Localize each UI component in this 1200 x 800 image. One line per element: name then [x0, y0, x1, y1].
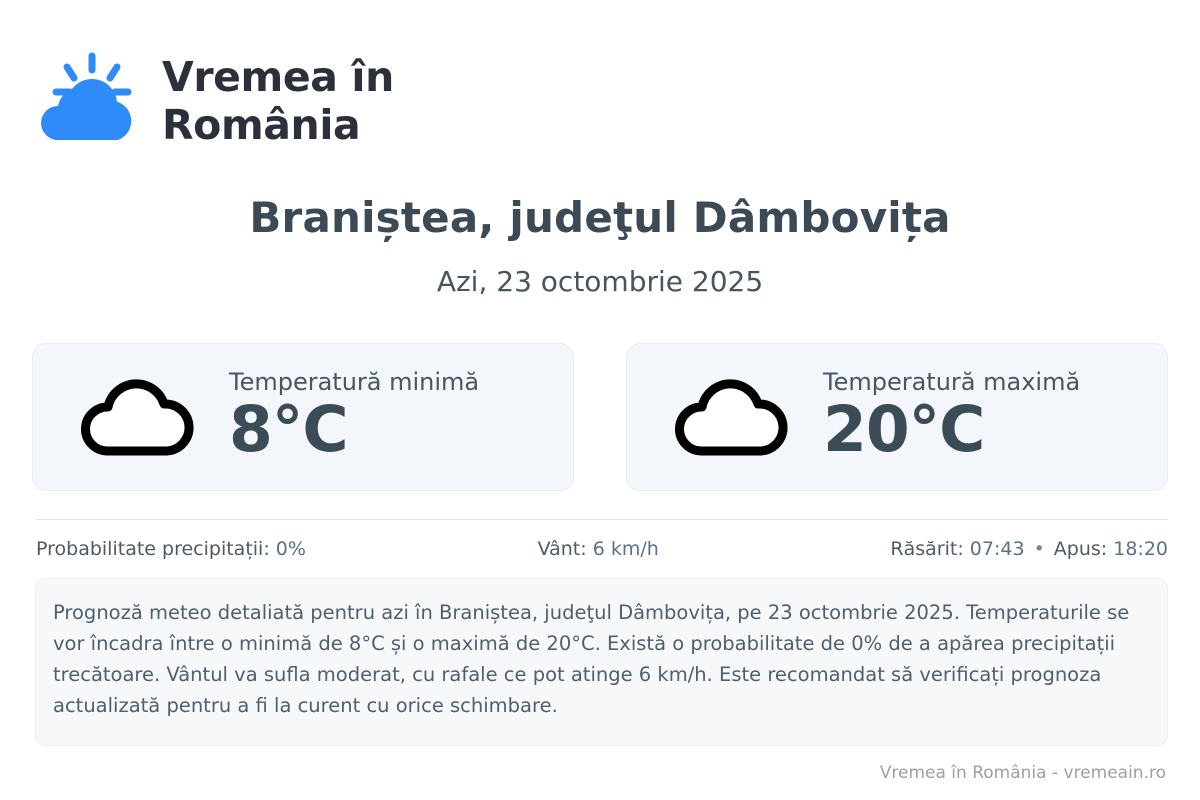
sun-times-stat: Răsărit: 07:43•Apus: 18:20 [890, 538, 1168, 560]
brand-name: Vremea în România [162, 53, 394, 150]
date-subtitle: Azi, 23 octombrie 2025 [0, 265, 1200, 298]
wind-value: 6 km/h [593, 538, 659, 560]
sunset-label: Apus: [1054, 538, 1107, 560]
wind-stat: Vânt: 6 km/h [306, 538, 890, 560]
sunrise-label: Răsărit: [890, 538, 963, 560]
forecast-description-box: Prognoză meteo detaliată pentru azi în B… [35, 578, 1168, 746]
sunrise-value: 07:43 [970, 538, 1025, 560]
forecast-description-text: Prognoză meteo detaliată pentru azi în B… [53, 597, 1141, 721]
sunset-value: 18:20 [1113, 538, 1168, 560]
max-temperature-body: Temperatură maximă 20°C [823, 369, 1080, 464]
precipitation-label: Probabilitate precipitații: [36, 538, 270, 560]
cloud-icon [671, 371, 793, 463]
precipitation-value: 0% [276, 538, 306, 560]
min-temperature-card: Temperatură minimă 8°C [32, 343, 574, 491]
min-temperature-body: Temperatură minimă 8°C [229, 369, 479, 464]
sun-separator: • [1025, 538, 1054, 560]
max-temperature-value: 20°C [823, 397, 1080, 463]
section-divider [36, 519, 1168, 520]
wind-label: Vânt: [538, 538, 587, 560]
footer-credit: Vremea în România - vremeain.ro [880, 763, 1166, 783]
brand-header: Vremea în România [36, 48, 394, 154]
page-title: Braniștea, judeţul Dâmbovița [0, 193, 1200, 242]
precipitation-stat: Probabilitate precipitații: 0% [36, 538, 306, 560]
temperature-cards: Temperatură minimă 8°C Temperatură maxim… [32, 343, 1168, 491]
cloud-icon [77, 371, 199, 463]
min-temperature-label: Temperatură minimă [229, 369, 479, 395]
weather-page: Vremea în România Braniștea, judeţul Dâm… [0, 0, 1200, 800]
weather-stats-row: Probabilitate precipitații: 0% Vânt: 6 k… [36, 538, 1168, 560]
min-temperature-value: 8°C [229, 397, 479, 463]
sun-behind-cloud-icon [36, 48, 142, 154]
max-temperature-card: Temperatură maximă 20°C [626, 343, 1168, 491]
max-temperature-label: Temperatură maximă [823, 369, 1080, 395]
